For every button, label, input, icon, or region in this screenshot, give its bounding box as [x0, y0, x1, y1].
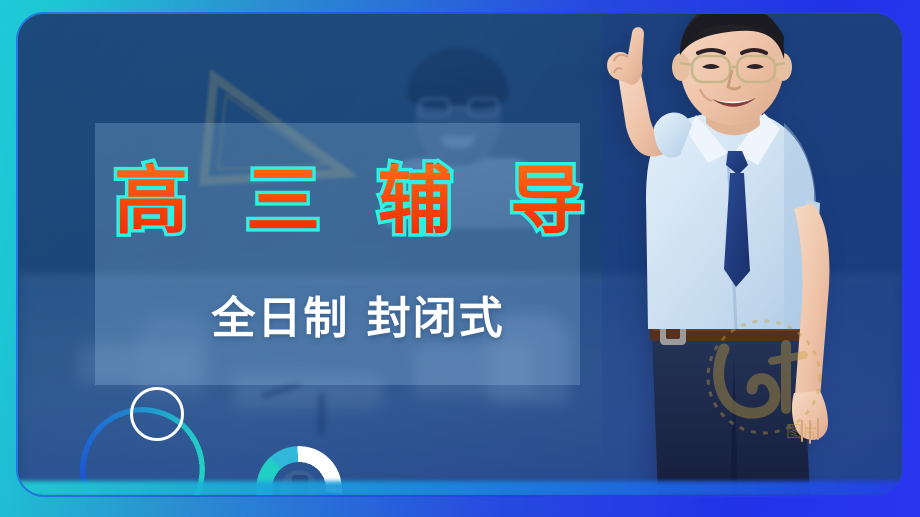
bottom-glow-bar — [18, 481, 902, 495]
decorative-white-ring — [130, 387, 184, 441]
headline-text: 高 三 辅 导 — [114, 164, 584, 238]
headline-char-1: 高 — [114, 164, 188, 238]
subtitle-text: 全日制 封闭式 — [168, 297, 548, 341]
banner-root: 45 30 20 10 — [0, 0, 920, 517]
teacher-portrait — [588, 14, 880, 495]
headline-char-4: 导 — [510, 164, 584, 238]
banner-stage: 45 30 20 10 — [18, 14, 902, 495]
headline-char-3: 辅 — [378, 164, 452, 238]
headline-char-2: 三 — [246, 164, 320, 238]
